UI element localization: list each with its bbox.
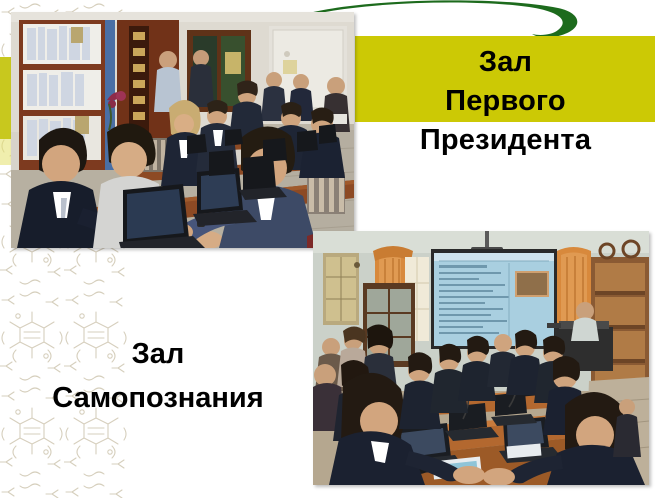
caption-left-line2: Самопознания bbox=[10, 376, 306, 420]
caption-right-line1: Зал bbox=[356, 36, 655, 82]
caption-right-line2: Первого bbox=[356, 82, 655, 121]
caption-hall-of-first-president: Зал Первого Президента bbox=[356, 36, 655, 160]
caption-left-line1: Зал bbox=[10, 332, 306, 376]
slide-canvas: Зал Первого Президента Зал Самопознания bbox=[0, 0, 655, 498]
photo-presentation-hall bbox=[313, 231, 649, 485]
caption-hall-of-self-knowledge: Зал Самопознания bbox=[10, 332, 306, 420]
photo-library-computer-class bbox=[11, 12, 354, 248]
caption-right-line3: Президента bbox=[356, 121, 655, 160]
